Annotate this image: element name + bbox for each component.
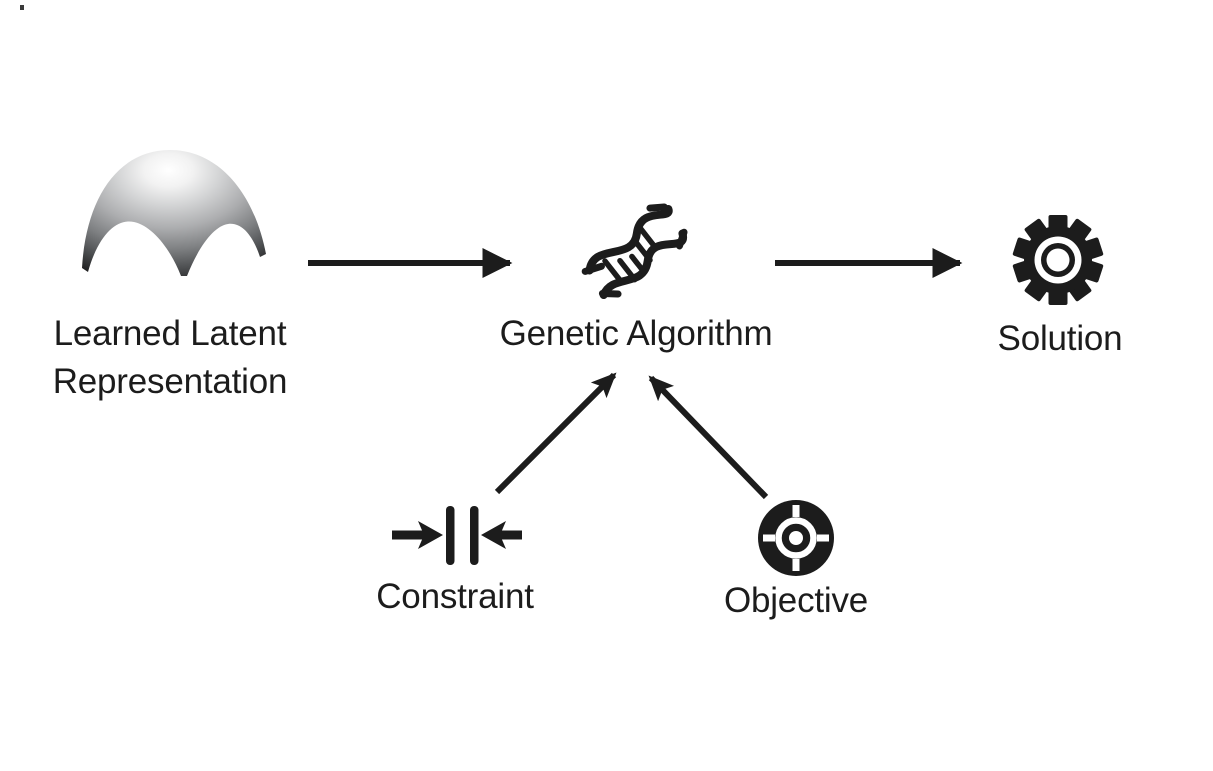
arrow-objective-to-genetic-algorithm (651, 378, 766, 497)
node-label-objective: Objective (724, 581, 868, 620)
node-objective[interactable]: Objective (724, 500, 868, 620)
target-crosshair-icon (758, 500, 834, 576)
node-label-solution: Solution (998, 319, 1123, 358)
node-constraint[interactable]: Constraint (376, 506, 534, 616)
arrow-constraint-to-genetic-algorithm (497, 375, 614, 492)
node-label-latent-line1: Learned Latent (54, 314, 287, 353)
pipeline-diagram: Learned Latent Representation (0, 0, 1213, 771)
scan-artifact-speck (20, 5, 24, 10)
node-learned-latent-representation[interactable]: Learned Latent Representation (53, 150, 288, 401)
node-label-constraint: Constraint (376, 577, 534, 616)
node-label-latent-line2: Representation (53, 362, 288, 401)
node-label-genetic-algorithm: Genetic Algorithm (500, 314, 773, 353)
gear-icon (1012, 215, 1103, 305)
diagram-canvas: Learned Latent Representation (0, 0, 1213, 771)
manifold-surface-icon (82, 150, 266, 276)
constraint-arrows-icon (392, 506, 522, 565)
dna-helix-icon (579, 199, 691, 301)
node-genetic-algorithm[interactable]: Genetic Algorithm (500, 199, 773, 353)
node-solution[interactable]: Solution (998, 215, 1123, 358)
